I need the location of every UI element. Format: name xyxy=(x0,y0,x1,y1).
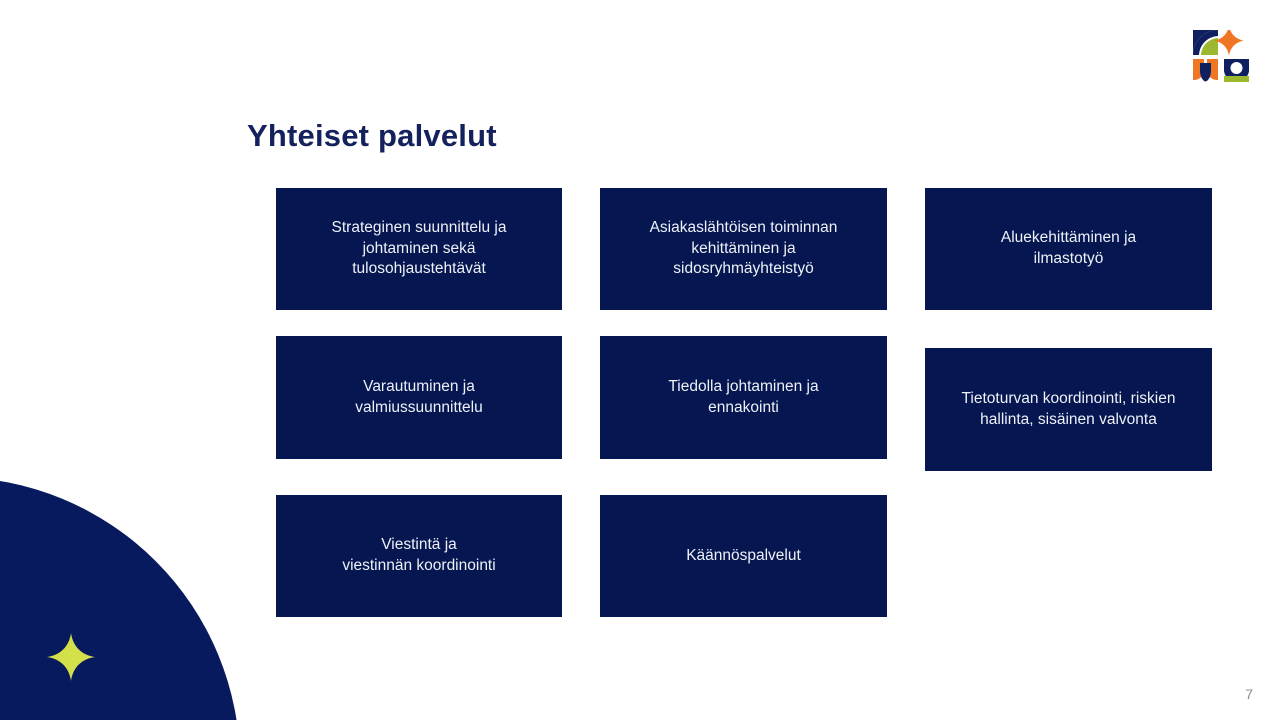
page-title: Yhteiset palvelut xyxy=(247,118,497,154)
leaf-mark xyxy=(1193,30,1218,55)
decorative-circle xyxy=(0,477,240,720)
service-card-customer-oriented[interactable]: Asiakaslähtöisen toiminnan kehittäminen … xyxy=(600,188,887,310)
service-card-label: Varautuminen ja valmiussuunnittelu xyxy=(355,377,483,418)
service-card-label: Aluekehittäminen ja ilmastotyö xyxy=(1001,228,1136,269)
service-card-preparedness[interactable]: Varautuminen ja valmiussuunnittelu xyxy=(276,336,562,459)
service-card-label: Asiakaslähtöisen toiminnan kehittäminen … xyxy=(650,218,838,280)
dome-mark xyxy=(1224,59,1249,82)
service-card-regional-development[interactable]: Aluekehittäminen ja ilmastotyö xyxy=(925,188,1212,310)
service-card-strategic-planning[interactable]: Strateginen suunnittelu ja johtaminen se… xyxy=(276,188,562,310)
service-card-communications[interactable]: Viestintä ja viestinnän koordinointi xyxy=(276,495,562,617)
service-card-label: Strateginen suunnittelu ja johtaminen se… xyxy=(332,218,507,280)
service-card-translation-services[interactable]: Käännöspalvelut xyxy=(600,495,887,617)
service-card-label: Viestintä ja viestinnän koordinointi xyxy=(342,535,495,576)
service-card-label: Tietoturvan koordinointi, riskien hallin… xyxy=(962,389,1176,430)
organization-logo xyxy=(1193,30,1249,82)
slide-canvas: Yhteiset palvelut Strateginen suunnittel… xyxy=(0,0,1280,720)
service-card-label: Käännöspalvelut xyxy=(686,546,801,567)
service-card-information-security[interactable]: Tietoturvan koordinointi, riskien hallin… xyxy=(925,348,1212,471)
sparkle-mark xyxy=(1214,30,1243,55)
decorative-sparkle-icon xyxy=(47,632,95,682)
service-card-knowledge-management[interactable]: Tiedolla johtaminen ja ennakointi xyxy=(600,336,887,459)
service-card-label: Tiedolla johtaminen ja ennakointi xyxy=(668,377,818,418)
page-number: 7 xyxy=(1245,686,1253,702)
tulip-mark xyxy=(1193,59,1218,82)
